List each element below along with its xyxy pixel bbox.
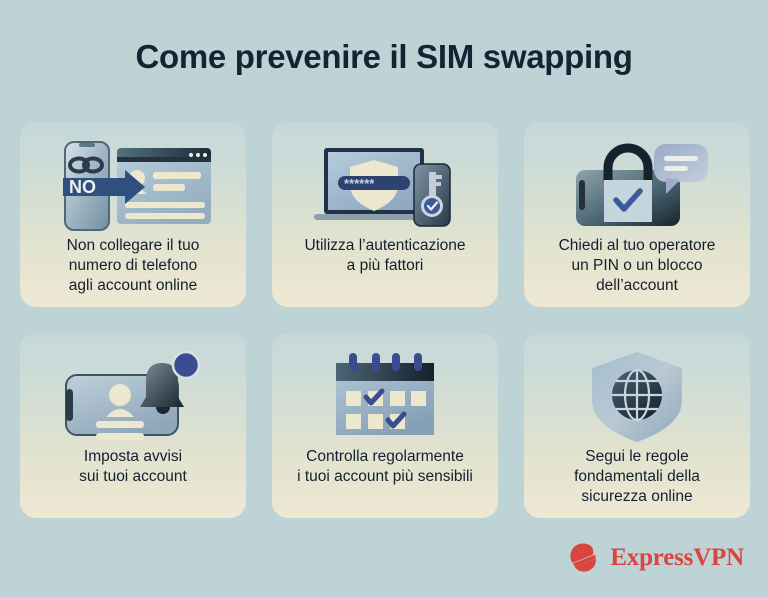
infographic-page: Come prevenire il SIM swapping xyxy=(0,0,768,597)
card-caption: Non collegare il tuo numero di telefono … xyxy=(20,236,246,296)
padlock-check-speech-bubble-icon xyxy=(524,138,750,234)
card-no-link-phone: NO Non collegare il tuo numero di telefo… xyxy=(20,122,246,307)
card-caption: Segui le regole fondamentali della sicur… xyxy=(524,447,750,507)
card-caption: Utilizza l’autenticazione a più fattori xyxy=(272,236,498,276)
card-multi-factor-auth: ****** Utilizza l’autenticazione a più f… xyxy=(272,122,498,307)
card-carrier-pin-lock: Chiedi al tuo operatore un PIN o un bloc… xyxy=(524,122,750,307)
card-account-alerts: Imposta avvisi sui tuoi account xyxy=(20,333,246,518)
password-mask: ****** xyxy=(344,176,375,191)
phone-link-to-browser-icon: NO xyxy=(20,138,246,234)
calendar-checkmarks-icon xyxy=(272,349,498,445)
page-title: Come prevenire il SIM swapping xyxy=(0,38,768,76)
cards-grid: NO Non collegare il tuo numero di telefo… xyxy=(20,122,750,518)
card-caption: Controlla regolarmente i tuoi account pi… xyxy=(272,447,498,487)
expressvpn-logo: ExpressVPN xyxy=(567,541,744,575)
expressvpn-wordmark: ExpressVPN xyxy=(610,544,744,572)
laptop-shield-password-phone-key-icon: ****** xyxy=(272,138,498,234)
card-caption: Imposta avvisi sui tuoi account xyxy=(20,447,246,487)
id-card-notification-bell-icon xyxy=(20,349,246,445)
expressvpn-e-mark-icon xyxy=(567,541,601,575)
shield-globe-icon xyxy=(524,349,750,445)
no-badge-label: NO xyxy=(69,177,96,197)
card-caption: Chiedi al tuo operatore un PIN o un bloc… xyxy=(524,236,750,296)
card-regular-checks: Controlla regolarmente i tuoi account pi… xyxy=(272,333,498,518)
card-security-basics: Segui le regole fondamentali della sicur… xyxy=(524,333,750,518)
